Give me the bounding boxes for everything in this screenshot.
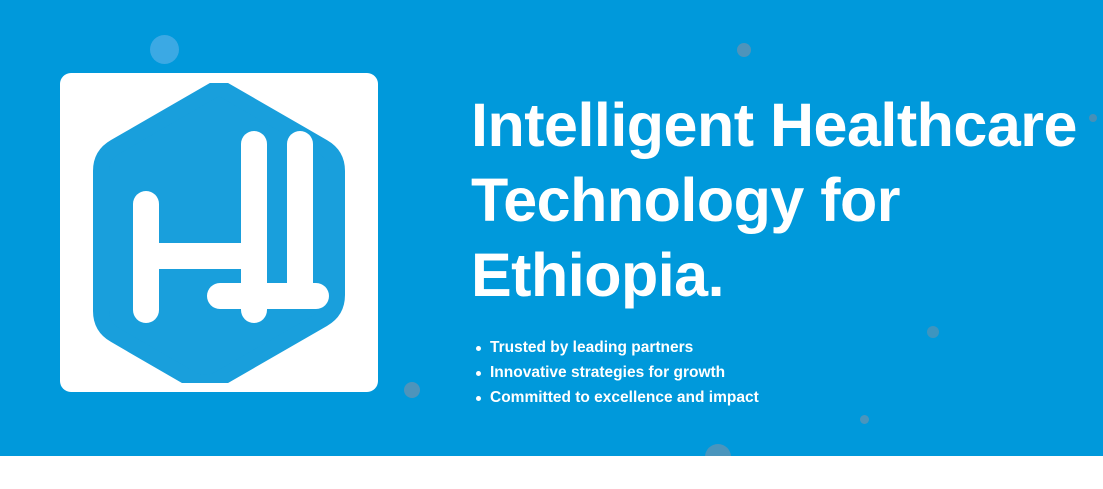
- hero-bullet-item: Committed to excellence and impact: [471, 386, 1096, 411]
- bullet-dot-icon: [476, 346, 481, 351]
- logo-card: [60, 73, 378, 392]
- deco-circle-1: [150, 35, 179, 64]
- page-title: Intelligent Healthcare Technology for Et…: [471, 88, 1096, 313]
- hero-banner: Intelligent Healthcare Technology for Et…: [0, 0, 1103, 456]
- page-bottom-strip: [0, 456, 1103, 489]
- hero-bullet-label: Trusted by leading partners: [490, 339, 693, 356]
- deco-circle-2: [737, 43, 751, 57]
- deco-circle-7: [705, 444, 731, 456]
- bullet-dot-icon: [476, 396, 481, 401]
- hero-bullet-label: Innovative strategies for growth: [490, 364, 725, 381]
- hero-bullet-item: Trusted by leading partners: [471, 336, 1096, 361]
- hero-text-column: Intelligent Healthcare Technology for Et…: [471, 88, 1096, 410]
- hero-bullet-list: Trusted by leading partnersInnovative st…: [471, 336, 1096, 410]
- deco-circle-4: [404, 382, 420, 398]
- bullet-dot-icon: [476, 371, 481, 376]
- hero-bullet-label: Committed to excellence and impact: [490, 389, 759, 406]
- hl-logo-icon: [91, 83, 347, 383]
- deco-circle-6: [860, 415, 869, 424]
- hero-bullet-item: Innovative strategies for growth: [471, 361, 1096, 386]
